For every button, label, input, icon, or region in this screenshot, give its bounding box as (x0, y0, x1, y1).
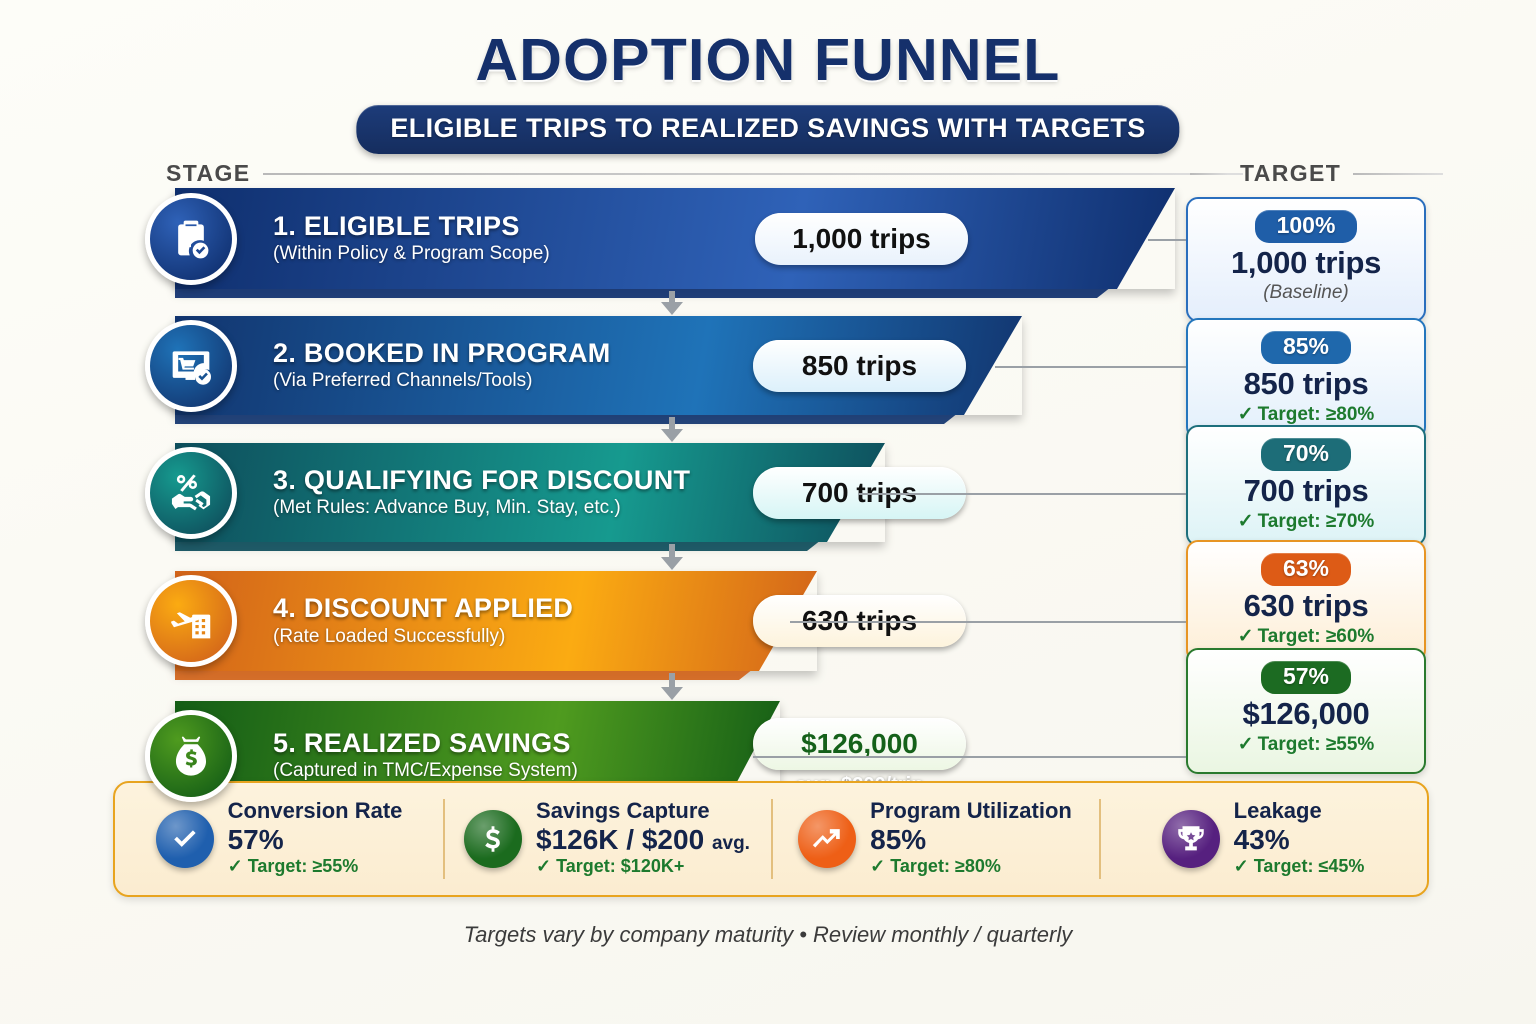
funnel-stage-3[interactable]: 3. QUALIFYING FOR DISCOUNT(Met Rules: Ad… (175, 443, 885, 542)
kpi-label: Savings Capture (536, 799, 750, 824)
funnel-bar: 4. DISCOUNT APPLIED(Rate Loaded Successf… (175, 571, 817, 671)
funnel-flow-arrow-stem (669, 544, 675, 558)
target-percent-badge: 100% (1255, 210, 1358, 243)
kpi-summary-bar: Conversion Rate57%✓ Target: ≥55%Savings … (113, 781, 1429, 897)
funnel-stage-title: 5. REALIZED SAVINGS (273, 729, 578, 757)
funnel-stage-text: 4. DISCOUNT APPLIED(Rate Loaded Successf… (273, 594, 573, 647)
kpi-target: ✓ Target: $120K+ (536, 855, 750, 878)
funnel-target-connector-4 (790, 621, 1186, 623)
kpi-value: $126K / $200 avg. (536, 824, 750, 855)
target-threshold: ✓Target: ≥55% (1238, 733, 1375, 756)
target-threshold-text: Target: ≥60% (1258, 626, 1375, 647)
page-subtitle-banner: ELIGIBLE TRIPS TO REALIZED SAVINGS WITH … (356, 105, 1179, 154)
page-title: ADOPTION FUNNEL (0, 26, 1536, 94)
kpi-text: Program Utilization85%✓ Target: ≥80% (870, 799, 1072, 878)
funnel-stage-value-pill: $126,000 (753, 718, 966, 770)
target-threshold-text: Target: ≥55% (1258, 734, 1375, 755)
target-card-1[interactable]: 100%1,000 trips(Baseline) (1186, 197, 1426, 322)
kpi-2[interactable]: Savings Capture$126K / $200 avg.✓ Target… (443, 783, 771, 895)
target-column-header: TARGET (1190, 160, 1443, 187)
funnel-target-connector-5 (753, 756, 1186, 758)
target-percent-badge: 70% (1261, 438, 1351, 471)
page-subtitle: ELIGIBLE TRIPS TO REALIZED SAVINGS WITH … (390, 113, 1145, 144)
kpi-value-main: 85% (870, 824, 926, 855)
kpi-value: 57% (228, 824, 403, 855)
funnel-stage-text: 5. REALIZED SAVINGS(Captured in TMC/Expe… (273, 729, 578, 782)
kpi-target: ✓ Target: ≥55% (228, 855, 403, 878)
funnel-stage-1[interactable]: 1. ELIGIBLE TRIPS(Within Policy & Progra… (175, 188, 1175, 289)
funnel-stage-title: 1. ELIGIBLE TRIPS (273, 212, 550, 240)
target-note: (Baseline) (1263, 282, 1349, 304)
kpi-3[interactable]: Program Utilization85%✓ Target: ≥80% (771, 783, 1099, 895)
kpi-text: Leakage43%✓ Target: ≤45% (1234, 799, 1365, 878)
funnel-bar-content: 1. ELIGIBLE TRIPS(Within Policy & Progra… (175, 188, 1175, 289)
kpi-1[interactable]: Conversion Rate57%✓ Target: ≥55% (115, 783, 443, 895)
kpi-value: 85% (870, 824, 1072, 855)
kpi-4[interactable]: Leakage43%✓ Target: ≤45% (1099, 783, 1427, 895)
check-icon: ✓ (870, 856, 885, 876)
kpi-value-small: avg. (712, 833, 750, 854)
target-card-4[interactable]: 63%630 trips✓Target: ≥60% (1186, 540, 1426, 662)
monitor-cart-check-icon (145, 320, 237, 412)
trophy-icon (1162, 810, 1220, 868)
kpi-target-text: Target: ≥80% (890, 856, 1001, 876)
kpi-target: ✓ Target: ≤45% (1234, 855, 1365, 878)
target-threshold: ✓Target: ≥70% (1238, 510, 1375, 533)
check-icon: ✓ (228, 856, 243, 876)
check-icon: ✓ (1238, 626, 1254, 647)
target-value: 700 trips (1244, 473, 1369, 509)
funnel-stage-text: 2. BOOKED IN PROGRAM(Via Preferred Chann… (273, 339, 611, 392)
funnel-stage-subtitle: (Rate Loaded Successfully) (273, 626, 573, 648)
target-value: 630 trips (1244, 588, 1369, 624)
kpi-value-main: 43% (1234, 824, 1290, 855)
funnel-stage-title: 3. QUALIFYING FOR DISCOUNT (273, 466, 690, 494)
check-icon: ✓ (536, 856, 551, 876)
target-header-rule-right (1353, 173, 1443, 175)
funnel-stage-value: 1,000 trips (792, 223, 931, 255)
target-header-rule-left (1190, 173, 1228, 175)
trend-up-icon (798, 810, 856, 868)
target-threshold: ✓Target: ≥80% (1238, 403, 1375, 426)
check-circle-icon (156, 810, 214, 868)
target-threshold: ✓Target: ≥60% (1238, 625, 1375, 648)
funnel-bar-content: 4. DISCOUNT APPLIED(Rate Loaded Successf… (175, 571, 817, 671)
stage-header-rule (263, 173, 1243, 175)
funnel-stage-subtitle: (Within Policy & Program Scope) (273, 243, 550, 265)
dollar-circle-icon (464, 810, 522, 868)
funnel-stage-value-pill: 1,000 trips (755, 213, 968, 265)
check-icon: ✓ (1238, 404, 1254, 425)
plane-hotel-icon (145, 575, 237, 667)
target-value: 850 trips (1244, 366, 1369, 402)
kpi-value-main: 57% (228, 824, 284, 855)
target-card-5[interactable]: 57%$126,000✓Target: ≥55% (1186, 648, 1426, 774)
clipboard-check-icon (145, 193, 237, 285)
funnel-stage-subtitle: (Met Rules: Advance Buy, Min. Stay, etc.… (273, 497, 690, 519)
target-percent-badge: 63% (1261, 553, 1351, 586)
funnel-target-connector-2 (995, 366, 1186, 368)
kpi-label: Conversion Rate (228, 799, 403, 824)
percent-handshake-icon (145, 447, 237, 539)
funnel-stage-title: 2. BOOKED IN PROGRAM (273, 339, 611, 367)
kpi-text: Savings Capture$126K / $200 avg.✓ Target… (536, 799, 750, 878)
kpi-target-text: Target: $120K+ (556, 856, 684, 876)
kpi-target: ✓ Target: ≥80% (870, 855, 1072, 878)
funnel-flow-arrow (661, 429, 683, 442)
target-column-label: TARGET (1240, 160, 1341, 187)
funnel-stage-subtitle: (Via Preferred Channels/Tools) (273, 370, 611, 392)
funnel-stage-text: 1. ELIGIBLE TRIPS(Within Policy & Progra… (273, 212, 550, 265)
funnel-stage-text: 3. QUALIFYING FOR DISCOUNT(Met Rules: Ad… (273, 466, 690, 519)
funnel-target-connector-3 (858, 493, 1186, 495)
kpi-label: Leakage (1234, 799, 1365, 824)
kpi-label: Program Utilization (870, 799, 1072, 824)
target-card-2[interactable]: 85%850 trips✓Target: ≥80% (1186, 318, 1426, 439)
funnel-flow-arrow (661, 687, 683, 700)
stage-column-label: STAGE (166, 160, 251, 187)
funnel-flow-arrow-stem (669, 673, 675, 688)
target-percent-badge: 57% (1261, 661, 1351, 694)
kpi-target-text: Target: ≤45% (1254, 856, 1365, 876)
target-percent-badge: 85% (1261, 331, 1351, 364)
stage-column-header: STAGE (166, 160, 1243, 187)
kpi-value: 43% (1234, 824, 1365, 855)
funnel-flow-arrow (661, 557, 683, 570)
funnel-bar: 1. ELIGIBLE TRIPS(Within Policy & Progra… (175, 188, 1175, 289)
target-threshold-text: Target: ≥80% (1258, 404, 1375, 425)
footer-note: Targets vary by company maturity • Revie… (0, 922, 1536, 948)
funnel-stage-4[interactable]: 4. DISCOUNT APPLIED(Rate Loaded Successf… (175, 571, 817, 671)
funnel-stage-2[interactable]: 2. BOOKED IN PROGRAM(Via Preferred Chann… (175, 316, 1022, 415)
check-icon: ✓ (1238, 734, 1254, 755)
check-icon: ✓ (1238, 511, 1254, 532)
kpi-value-main: $126K / $200 (536, 824, 704, 855)
funnel-stage-title: 4. DISCOUNT APPLIED (273, 594, 573, 622)
funnel-stage-subtitle: (Captured in TMC/Expense System) (273, 760, 578, 782)
funnel-stage-value: 850 trips (802, 350, 917, 382)
kpi-target-text: Target: ≥55% (248, 856, 359, 876)
check-icon: ✓ (1234, 856, 1249, 876)
target-value: $126,000 (1243, 696, 1370, 732)
target-value: 1,000 trips (1231, 245, 1381, 281)
kpi-text: Conversion Rate57%✓ Target: ≥55% (228, 799, 403, 878)
funnel-target-connector-1 (1148, 239, 1186, 241)
target-threshold-text: Target: ≥70% (1258, 511, 1375, 532)
target-card-3[interactable]: 70%700 trips✓Target: ≥70% (1186, 425, 1426, 546)
funnel-flow-arrow (661, 302, 683, 315)
funnel-stage-value-pill: 850 trips (753, 340, 966, 392)
funnel-bar: 2. BOOKED IN PROGRAM(Via Preferred Chann… (175, 316, 1022, 415)
funnel-bar: 3. QUALIFYING FOR DISCOUNT(Met Rules: Ad… (175, 443, 885, 542)
money-bag-icon (145, 710, 237, 802)
